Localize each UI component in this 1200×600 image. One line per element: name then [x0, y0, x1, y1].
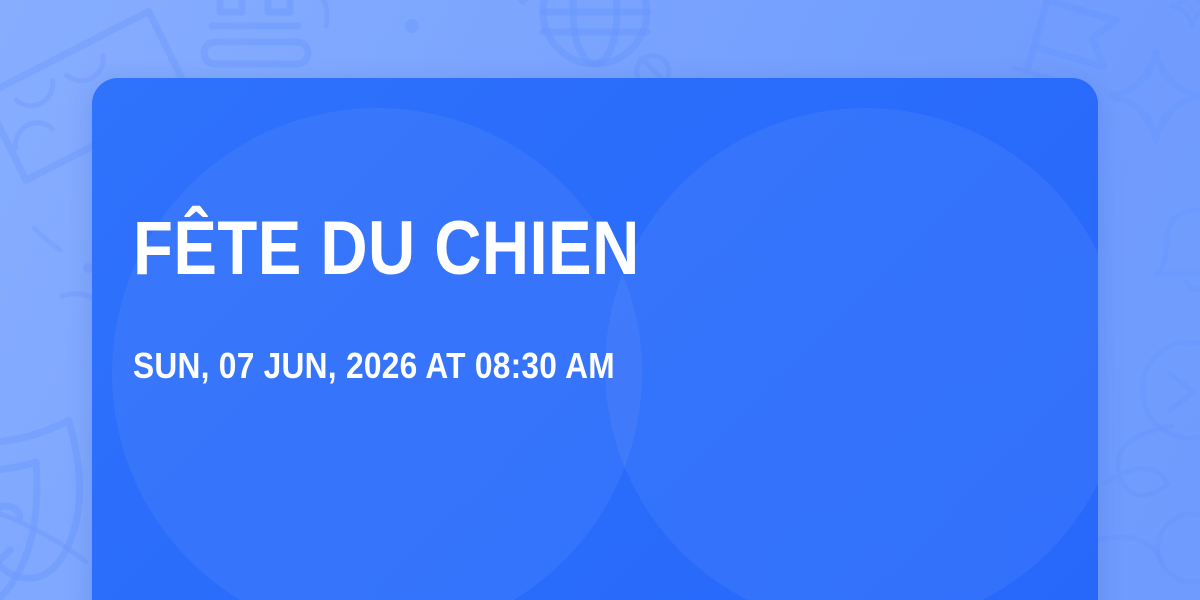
chess-rook-icon: [204, 0, 327, 64]
sparkle-icon: [1112, 52, 1200, 140]
event-datetime: SUN, 07 JUN, 2026 AT 08:30 AM: [133, 346, 615, 386]
event-card: FÊTE DU CHIEN SUN, 07 JUN, 2026 AT 08:30…: [92, 78, 1098, 600]
pin-icon: [518, 0, 528, 2]
event-banner: FÊTE DU CHIEN SUN, 07 JUN, 2026 AT 08:30…: [0, 0, 1200, 600]
bell-icon: [1156, 210, 1200, 289]
confetti-icon: [0, 228, 96, 562]
balloon-string-icon: [1098, 426, 1200, 582]
globe-icon: [543, 0, 669, 88]
arrow-circle-icon: [1142, 342, 1200, 438]
event-title: FÊTE DU CHIEN: [133, 210, 640, 288]
theater-masks-icon: [0, 418, 100, 600]
event-card-body: FÊTE DU CHIEN SUN, 07 JUN, 2026 AT 08:30…: [133, 78, 933, 600]
sparkle-small-icon: [1172, 0, 1200, 26]
